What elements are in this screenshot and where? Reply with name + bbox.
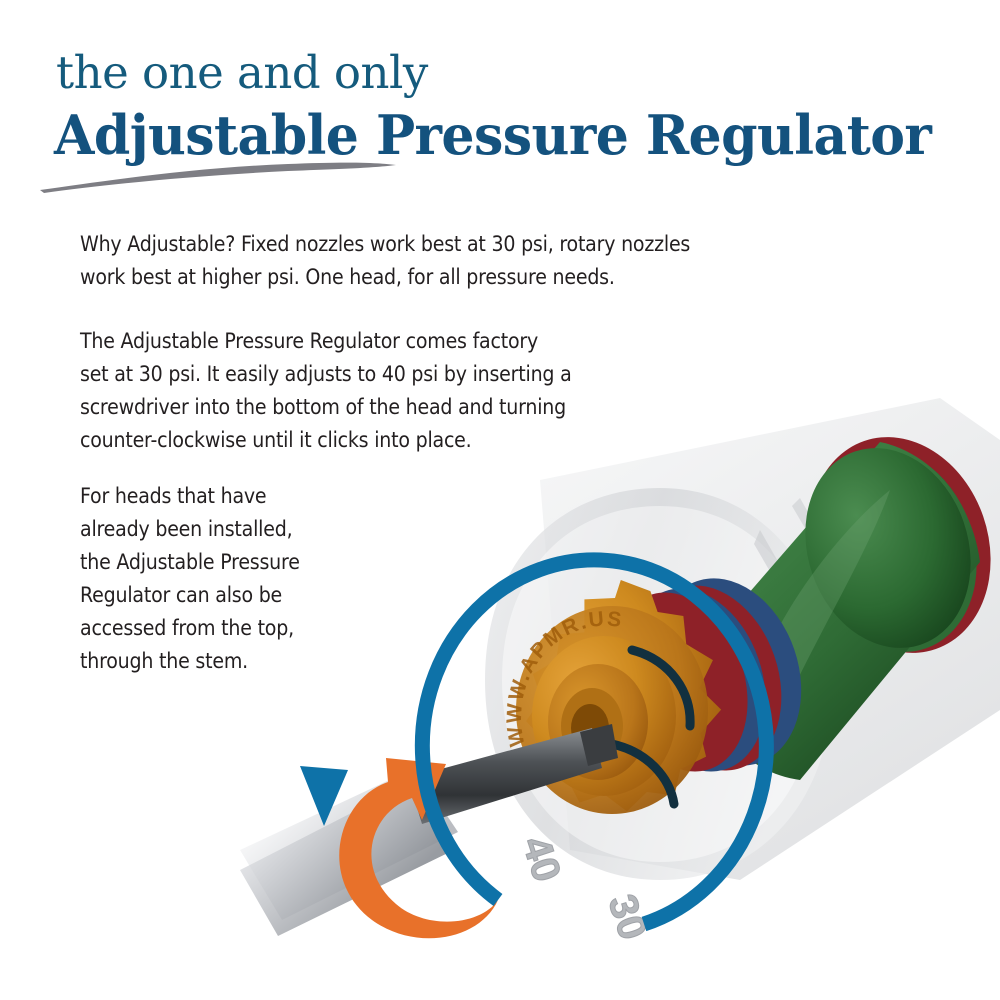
paragraph-why-adjustable: Why Adjustable? Fixed nozzles work best … (80, 228, 690, 294)
poster-canvas: the one and only Adjustable Pressure Reg… (0, 0, 1000, 1000)
page-title: Adjustable Pressure Regulator (54, 108, 931, 162)
headline-kicker: the one and only (56, 50, 428, 95)
product-illustration: WWW.APMR.US 40 30 (240, 380, 1000, 1000)
